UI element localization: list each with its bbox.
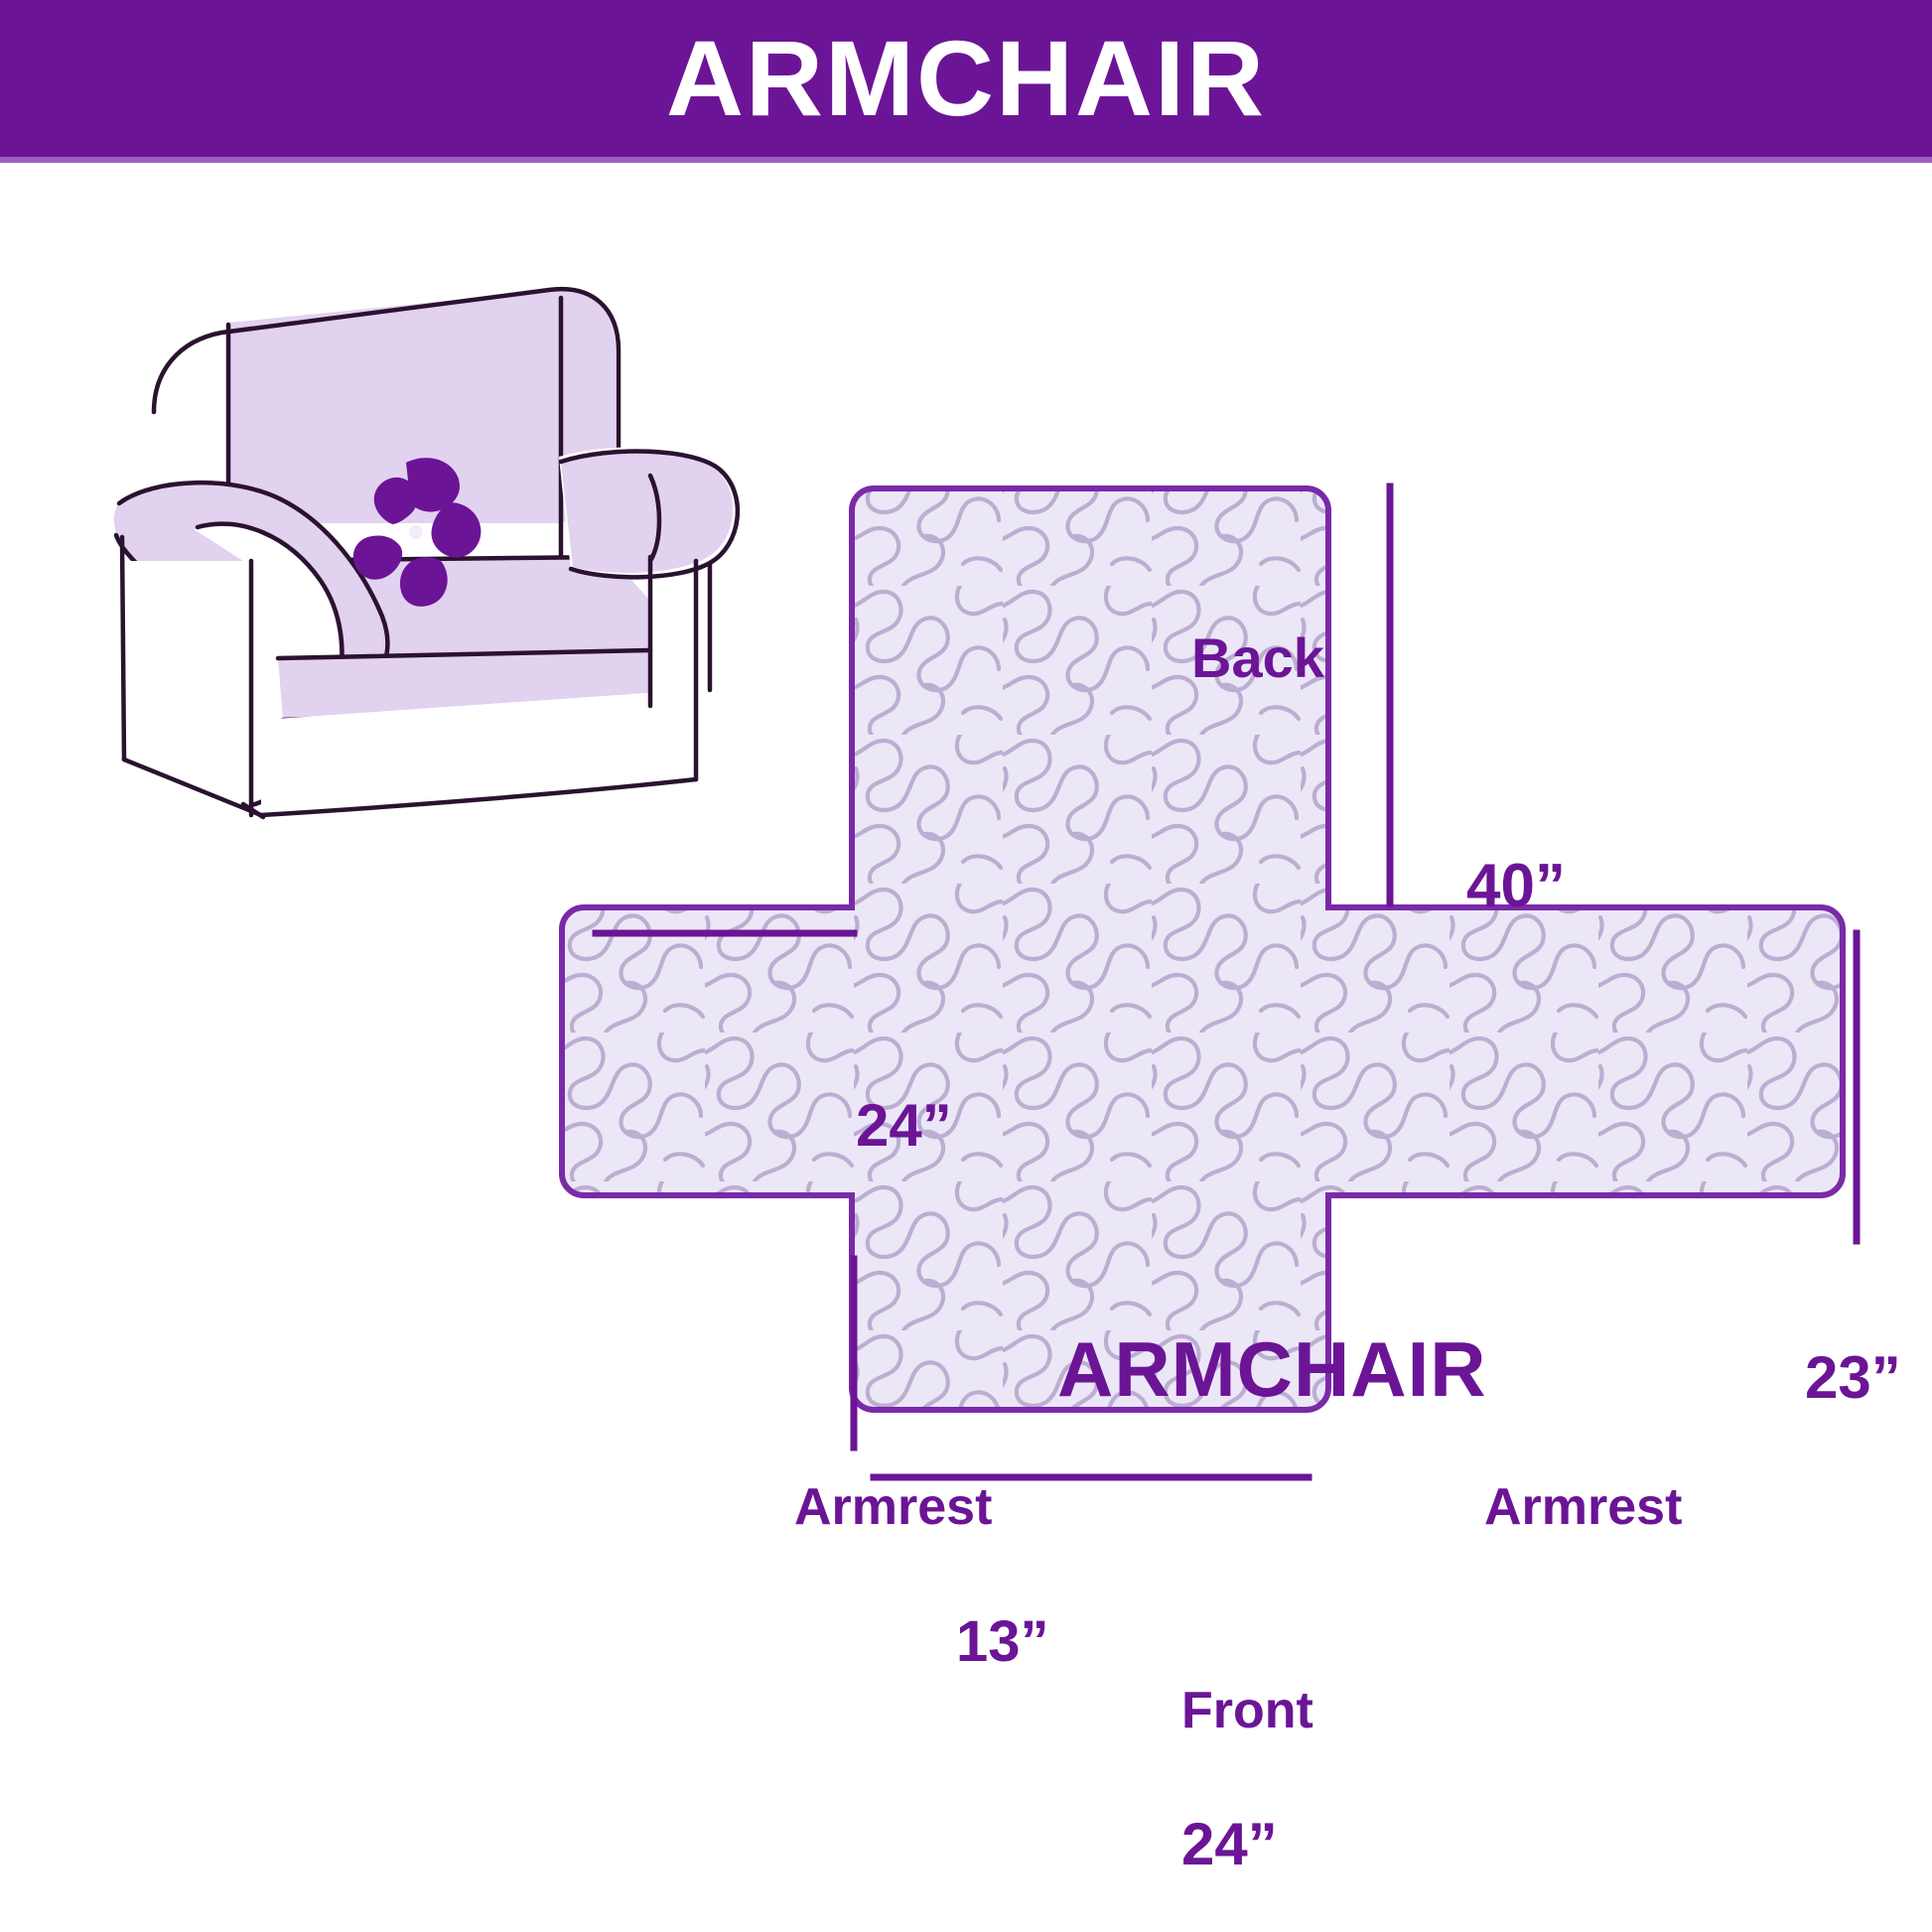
dimension-label-bottom-width: 24” <box>1181 1815 1278 1874</box>
dimension-label-side-depth: 23” <box>1805 1348 1901 1408</box>
header-banner: ARMCHAIR <box>0 0 1932 157</box>
cross-shape <box>556 437 1932 1588</box>
header-underline <box>0 157 1932 163</box>
part-label-back: Back <box>1191 630 1324 686</box>
dimension-label-front-height: 13” <box>956 1613 1049 1671</box>
part-label-armrest-right: Armrest <box>1484 1481 1682 1533</box>
dimension-label-top-width: 24” <box>856 1096 952 1156</box>
diagram-center-label: ARMCHAIR <box>1057 1330 1487 1408</box>
part-label-armrest-left: Armrest <box>794 1481 992 1533</box>
cross-pattern-diagram <box>556 437 1932 1588</box>
part-label-front: Front <box>1181 1685 1313 1736</box>
page-title: ARMCHAIR <box>666 25 1266 132</box>
dimension-label-back-height: 40” <box>1466 856 1566 917</box>
